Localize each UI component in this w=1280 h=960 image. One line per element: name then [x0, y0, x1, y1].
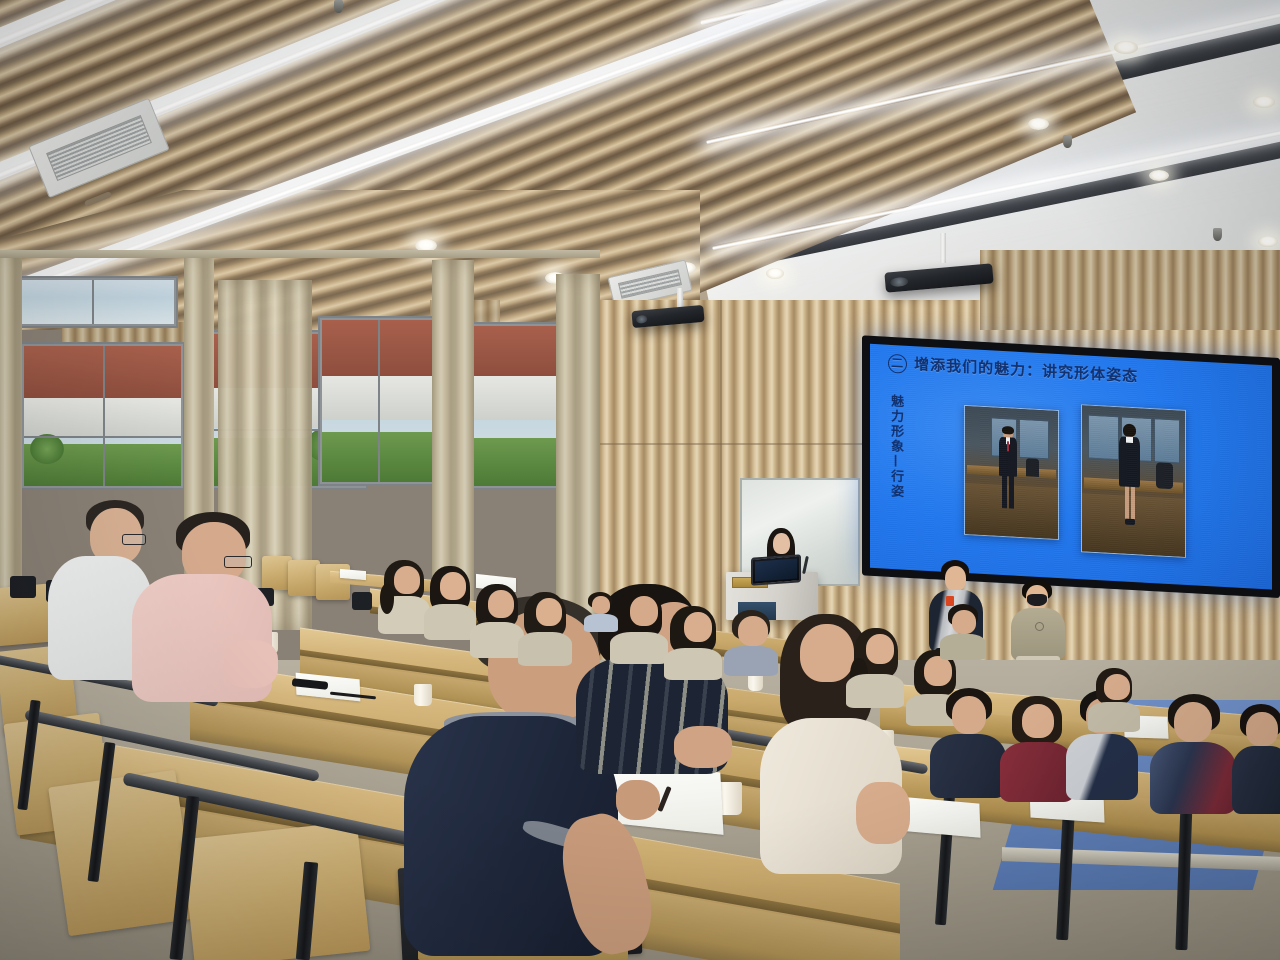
attendee-row3-8	[846, 628, 904, 708]
seat-bracket-5	[352, 592, 372, 610]
ceiling-downlight-9	[1258, 236, 1278, 247]
attendee-row3-6	[664, 606, 722, 680]
attendee-plaid-vest-arm	[674, 726, 732, 768]
slide-photo-female	[1081, 404, 1186, 557]
seatback-left-row-e[interactable]	[182, 821, 371, 960]
presenter-head	[773, 533, 790, 554]
attendee-pink-shirt-arm	[224, 640, 278, 688]
student-demo-right-shirt	[1011, 608, 1065, 660]
ceiling-downlight-6	[1028, 118, 1049, 130]
exterior-shrub-1	[30, 434, 64, 464]
attendee-pink-shirt-glasses	[224, 556, 252, 568]
slide-section-number: 二	[888, 353, 907, 373]
attendee-cream-blouse-arm	[856, 782, 910, 844]
attendee-row3-2	[424, 566, 476, 636]
sprinkler-head-1	[334, 0, 343, 13]
window-left-1	[20, 342, 185, 490]
seat-bracket-1	[10, 576, 36, 598]
student-demo-right-logo	[1035, 622, 1044, 631]
attendee-row3-4	[518, 592, 572, 664]
student-uniform-2	[1000, 696, 1074, 802]
presentation-screen[interactable]: 二增添我们的魅力：讲究形体姿态 魅力形象—行姿	[862, 335, 1280, 598]
lecture-hall-photo: 二增添我们的魅力：讲究形体姿态 魅力形象—行姿	[0, 0, 1280, 960]
upper-right-wall-slats	[980, 250, 1280, 330]
student-demo-right-face-mask	[1027, 594, 1047, 606]
slide-content: 二增添我们的魅力：讲究形体姿态 魅力形象—行姿	[870, 344, 1272, 590]
ceiling-downlight-5	[1114, 41, 1138, 54]
slide-photo-male	[964, 405, 1058, 540]
slide-title: 二增添我们的魅力：讲究形体姿态	[888, 351, 1138, 386]
podium-monitor[interactable]	[751, 554, 801, 585]
attendee-pink-shirt	[132, 512, 278, 702]
attendee-row3-1	[378, 560, 430, 630]
ceiling-downlight-4	[766, 268, 784, 279]
window-left-4	[466, 322, 562, 490]
sprinkler-head-3	[1213, 228, 1222, 241]
student-demo-left-head	[945, 566, 966, 591]
attendee-right-mid-1	[940, 604, 986, 660]
ceiling-downlight-7	[1253, 96, 1275, 108]
curtain-rail	[0, 250, 600, 258]
attendee-row3-3	[470, 584, 524, 654]
attendee-back-left-1	[584, 592, 618, 632]
slide-title-text: 增添我们的魅力：讲究形体姿态	[914, 355, 1138, 385]
attendee-right-mid-2	[1088, 668, 1140, 732]
projector-lens-left	[635, 315, 647, 323]
attendee-navy-polo-hand	[616, 780, 660, 820]
curtain-left-edge	[0, 250, 22, 630]
curtain-panel-4	[556, 274, 600, 630]
student-uniform-1	[930, 688, 1006, 798]
projector-mount-pole-right	[940, 233, 946, 263]
slide-vertical-caption: 魅力形象—行姿	[886, 394, 905, 500]
slide-figure-female-suit	[1119, 437, 1141, 488]
student-uniform-4	[1150, 694, 1236, 814]
attendee-row3-5	[610, 590, 668, 664]
sprinkler-head-2	[1063, 135, 1072, 148]
window-left-3	[318, 316, 438, 486]
ceiling-downlight-8	[1149, 170, 1169, 181]
clerestory-window	[18, 276, 178, 328]
projector-lens-right	[890, 277, 908, 287]
student-uniform-5	[1232, 704, 1280, 814]
attendee-row3-7	[724, 610, 778, 676]
